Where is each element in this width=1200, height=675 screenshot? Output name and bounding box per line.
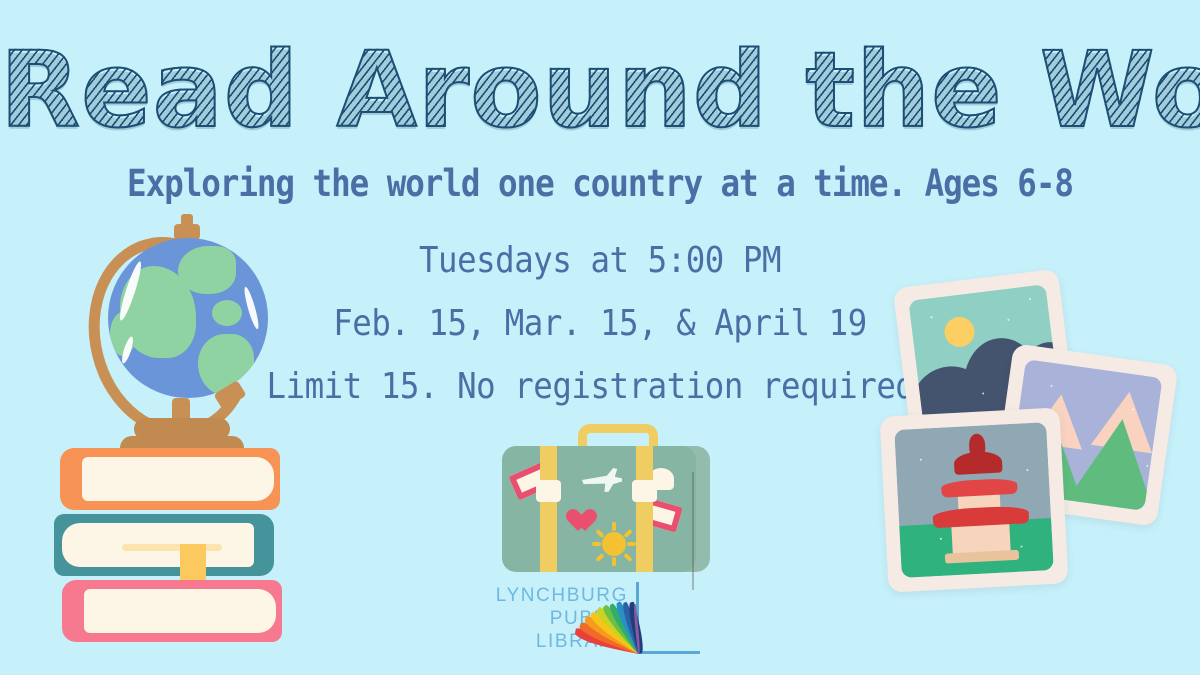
bookmark-line (122, 544, 222, 551)
book-pages (84, 589, 276, 633)
pagoda-spire (969, 433, 986, 456)
suitcase-strap (636, 446, 653, 572)
suitcase-strap (540, 446, 557, 572)
globe-sphere (108, 238, 268, 398)
book-pink (62, 580, 282, 642)
globe-icon (62, 218, 292, 458)
globe-top-pin-cap (181, 214, 193, 228)
logo-line-1: LYNCHBURG (488, 584, 628, 607)
heart-sticker (572, 510, 598, 534)
globe-highlight (242, 286, 261, 330)
photo-cards-icon (872, 272, 1162, 612)
suitcase-seam (692, 472, 694, 590)
page-title: Read Around the World (0, 36, 1200, 145)
event-flyer: Read Around the World Read Around the Wo… (0, 0, 1200, 675)
sun-sticker (602, 532, 626, 556)
library-logo: LYNCHBURG PUBLIC LIBRARY (488, 582, 703, 660)
suitcase-icon (502, 424, 712, 574)
book-orange (60, 448, 280, 510)
suitcase-buckle (536, 480, 561, 502)
subtitle: Exploring the world one country at a tim… (72, 162, 1128, 205)
logo-baseline (636, 651, 700, 654)
photo-image (894, 422, 1054, 578)
landmass (212, 300, 242, 326)
landmass (178, 246, 236, 294)
book-pages (82, 457, 274, 501)
photo-card-pagoda (880, 407, 1069, 592)
book-stack-icon (52, 448, 302, 668)
suitcase-buckle (632, 480, 657, 502)
